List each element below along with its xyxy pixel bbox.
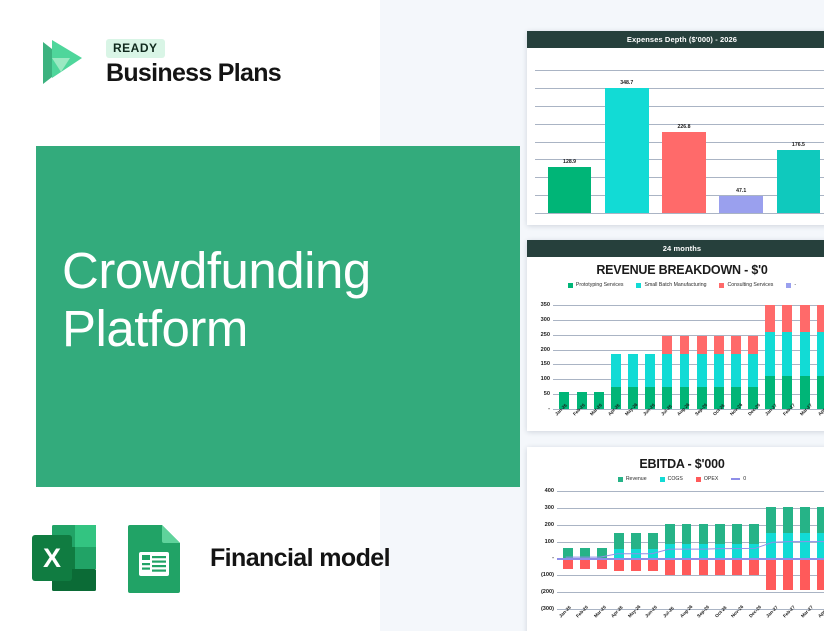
bar-column	[676, 305, 693, 409]
bar-segment-opex	[749, 558, 759, 575]
bar-segment-cogs	[732, 544, 742, 559]
bar-segment	[628, 354, 638, 387]
bar-segment	[748, 354, 758, 387]
bar-segment-revenue	[682, 524, 692, 544]
bar-segment-revenue	[699, 524, 709, 544]
gridline	[535, 213, 824, 214]
bar-column	[813, 305, 824, 409]
chart-title-ebitda: EBITDA - $'000	[535, 457, 824, 471]
bar-segment	[817, 305, 824, 332]
bar-segment	[714, 336, 724, 354]
bar-column	[678, 491, 695, 609]
bar-column	[624, 305, 641, 409]
bar: 226.8	[662, 132, 705, 213]
bar-segment-revenue	[597, 548, 607, 558]
bar-segment	[714, 354, 724, 387]
positive-stack	[766, 507, 776, 558]
bar-segment	[662, 336, 672, 354]
stacked-bar	[748, 305, 758, 409]
bar-column	[627, 491, 644, 609]
bar-segment	[748, 336, 758, 354]
bar-column	[746, 491, 763, 609]
bar: 128.9	[548, 167, 591, 213]
positive-stack	[732, 524, 742, 559]
plot-expenses: 128.9348.7226.847.1176.5	[535, 70, 824, 213]
bar: 176.5	[777, 150, 820, 213]
bar-segment-revenue	[665, 524, 675, 544]
bar-segment	[662, 354, 672, 387]
legend-label: Consulting Services	[727, 282, 773, 288]
bar-segment	[645, 354, 655, 387]
stacked-bar	[765, 305, 775, 409]
x-tick: Jan-26	[553, 411, 571, 431]
bar-segment-opex	[817, 558, 824, 590]
legend-label: Small Batch Manufacturing	[644, 282, 706, 288]
legend-label: Revenue	[626, 476, 647, 482]
positive-stack	[563, 548, 573, 558]
bar-segment-cogs	[783, 533, 793, 558]
positive-stack	[783, 507, 793, 558]
legend-label: COGS	[668, 476, 683, 482]
zero-reference-line	[557, 558, 824, 559]
bar-segment-opex	[715, 558, 725, 575]
bar-series-expenses: 128.9348.7226.847.1176.5	[541, 70, 824, 213]
bar-segment-cogs	[614, 549, 624, 558]
bar-column	[560, 491, 577, 609]
legend-swatch	[786, 283, 791, 288]
positive-stack	[597, 548, 607, 558]
hero-block: Crowdfunding Platform	[36, 146, 520, 487]
bar-segment-opex	[665, 558, 675, 575]
bar-column: 47.1	[713, 70, 770, 213]
footer-label: Financial model	[210, 544, 390, 573]
legend-item: Revenue	[618, 476, 647, 482]
bar-column	[796, 491, 813, 609]
bar-column	[594, 491, 611, 609]
bar-segment-cogs	[749, 544, 759, 559]
bar-segment-opex	[682, 558, 692, 575]
bar-column	[590, 305, 607, 409]
bar-column	[727, 305, 744, 409]
legend-swatch	[719, 283, 724, 288]
google-sheets-icon	[120, 521, 188, 595]
bar-segment	[731, 354, 741, 387]
bar-column	[577, 491, 594, 609]
y-tick-label: 300	[541, 317, 550, 323]
y-tick-label: 300	[545, 505, 554, 511]
bar-value-label: 226.8	[677, 124, 690, 130]
bar-segment	[800, 305, 810, 332]
bar-column	[710, 305, 727, 409]
bar-segment-revenue	[732, 524, 742, 544]
positive-stack	[614, 533, 624, 558]
y-tick-label: (100)	[541, 572, 554, 578]
bar-series-revenue	[556, 305, 824, 409]
chart-plot-area-revenue: REVENUE BREAKDOWN - $'0 Prototyping Serv…	[527, 257, 824, 431]
chart-card-revenue[interactable]: 24 months REVENUE BREAKDOWN - $'0 Protot…	[527, 240, 824, 431]
legend-item: Consulting Services	[719, 282, 773, 288]
chart-band-revenue: 24 months	[527, 240, 824, 257]
bar-column: 226.8	[655, 70, 712, 213]
chart-title-expenses: Expenses Depth ($'000) - 2026	[527, 31, 824, 48]
bar-segment-revenue	[766, 507, 776, 533]
play-triangle-logo-icon	[30, 32, 92, 94]
legend-swatch	[618, 477, 623, 482]
bar-column	[762, 305, 779, 409]
positive-stack	[800, 507, 810, 558]
bar: 47.1	[719, 196, 762, 213]
bar-value-label: 176.5	[792, 142, 805, 148]
bar-segment-revenue	[648, 533, 658, 549]
y-tick-label: 100	[541, 376, 550, 382]
chart-plot-area-ebitda: EBITDA - $'000 RevenueCOGSOPEX0 40030020…	[527, 447, 824, 631]
plot-ebitda: 400300200100-(100)(200)(300)	[557, 491, 824, 609]
bar-segment-revenue	[783, 507, 793, 533]
bar-segment-cogs	[699, 544, 709, 559]
bar-segment	[782, 332, 792, 376]
brand-logo-block: READY Business Plans	[30, 32, 281, 94]
bar-column	[780, 491, 797, 609]
chart-legend-ebitda: RevenueCOGSOPEX0	[535, 476, 824, 482]
legend-item: COGS	[660, 476, 683, 482]
y-tick-label: (300)	[541, 606, 554, 612]
y-tick-label: 150	[541, 361, 550, 367]
brand-text: READY Business Plans	[106, 39, 281, 86]
positive-stack	[749, 524, 759, 559]
bar-column: 348.7	[598, 70, 655, 213]
bar-segment	[611, 354, 621, 387]
bar-segment-opex	[563, 558, 573, 568]
bar-column	[796, 305, 813, 409]
bar-segment-cogs	[817, 533, 824, 558]
legend-item: Prototyping Services	[568, 282, 624, 288]
legend-label: Prototyping Services	[576, 282, 624, 288]
stacked-bar	[714, 305, 724, 409]
bar-segment-opex	[580, 558, 590, 568]
bar-value-label: 128.9	[563, 159, 576, 165]
stacked-bar	[559, 305, 569, 409]
stacked-bar	[782, 305, 792, 409]
bar-segment-opex	[699, 558, 709, 575]
stacked-bar	[817, 305, 824, 409]
positive-stack	[715, 524, 725, 559]
y-tick-label: 250	[541, 332, 550, 338]
bar-segment	[800, 332, 810, 376]
bar-column	[659, 305, 676, 409]
bar-segment-opex	[766, 558, 776, 590]
stacked-bar	[800, 305, 810, 409]
y-tick-label: -	[552, 555, 554, 561]
plot-revenue: 35030025020015010050-	[553, 305, 824, 409]
bar-segment-revenue	[749, 524, 759, 544]
bar-segment-opex	[732, 558, 742, 575]
bar-segment-cogs	[682, 544, 692, 559]
bar-column	[556, 305, 573, 409]
bar-segment-opex	[648, 558, 658, 570]
bar-series-ebitda	[560, 491, 824, 609]
bar-column	[610, 491, 627, 609]
stacked-bar	[645, 305, 655, 409]
y-tick-label: 350	[541, 302, 550, 308]
stacked-bar	[577, 305, 587, 409]
bar-column: 128.9	[541, 70, 598, 213]
chart-title-revenue: REVENUE BREAKDOWN - $'0	[535, 263, 824, 277]
x-axis-labels-ebitda: Jan-26Feb-26Mar-26Apr-26May-26Jun-26Jul-…	[557, 613, 824, 631]
positive-stack	[631, 533, 641, 558]
stacked-bar	[611, 305, 621, 409]
bar-column	[573, 305, 590, 409]
legend-swatch	[568, 283, 573, 288]
bar-segment-cogs	[648, 549, 658, 558]
bar-segment	[782, 305, 792, 332]
y-tick-label: 50	[544, 391, 550, 397]
bar-segment-revenue	[580, 548, 590, 558]
bar-segment-cogs	[800, 533, 810, 558]
bar-column	[695, 491, 712, 609]
bar-column	[693, 305, 710, 409]
bar-column	[813, 491, 824, 609]
chart-card-ebitda[interactable]: EBITDA - $'000 RevenueCOGSOPEX0 40030020…	[527, 447, 824, 631]
legend-swatch	[731, 478, 740, 480]
legend-item: 0	[731, 476, 746, 482]
y-tick-label: 200	[545, 522, 554, 528]
page-title: Crowdfunding Platform	[62, 242, 502, 358]
bar-segment-revenue	[614, 533, 624, 549]
bar-column: 176.5	[770, 70, 824, 213]
bar-segment	[765, 332, 775, 376]
positive-stack	[665, 524, 675, 559]
svg-text:X: X	[43, 543, 61, 573]
bar-segment-revenue	[715, 524, 725, 544]
stacked-bar	[697, 305, 707, 409]
positive-stack	[648, 533, 658, 558]
bar: 348.7	[605, 88, 648, 213]
bar-segment-revenue	[563, 548, 573, 558]
bar-column	[661, 491, 678, 609]
bar-segment-opex	[800, 558, 810, 590]
bar-column	[642, 305, 659, 409]
bar-segment-cogs	[665, 544, 675, 559]
positive-stack	[682, 524, 692, 559]
legend-swatch	[660, 477, 665, 482]
x-tick: Jan-26	[557, 613, 574, 631]
ready-badge: READY	[106, 39, 165, 58]
y-tick-label: (200)	[541, 589, 554, 595]
bar-segment	[680, 336, 690, 354]
legend-item: OPEX	[696, 476, 718, 482]
bar-column	[729, 491, 746, 609]
bar-segment	[765, 305, 775, 332]
excel-file-icon: X	[30, 521, 98, 595]
stacked-bar	[731, 305, 741, 409]
positive-stack	[699, 524, 709, 559]
bar-segment-cogs	[631, 549, 641, 558]
y-tick-label: 100	[545, 539, 554, 545]
bar-segment-opex	[614, 558, 624, 570]
y-tick-label: -	[548, 406, 550, 412]
bar-segment-revenue	[800, 507, 810, 533]
legend-label: 0	[743, 476, 746, 482]
stacked-bar	[680, 305, 690, 409]
bar-segment	[817, 332, 824, 376]
stacked-bar	[628, 305, 638, 409]
chart-card-expenses[interactable]: Expenses Depth ($'000) - 2026 128.9348.7…	[527, 31, 824, 225]
bar-value-label: 348.7	[620, 80, 633, 86]
bar-column	[607, 305, 624, 409]
positive-stack	[580, 548, 590, 558]
footer-row: X Financial model	[30, 521, 390, 595]
bar-segment	[697, 336, 707, 354]
bar-column	[745, 305, 762, 409]
bar-segment-cogs	[766, 533, 776, 558]
brand-name: Business Plans	[106, 60, 281, 86]
legend-swatch	[636, 283, 641, 288]
bar-segment-opex	[597, 558, 607, 568]
chart-plot-area-expenses: 128.9348.7226.847.1176.5	[527, 48, 824, 225]
stacked-bar	[594, 305, 604, 409]
y-tick-label: 200	[541, 347, 550, 353]
bar-column	[779, 305, 796, 409]
legend-swatch	[696, 477, 701, 482]
bar-segment	[680, 354, 690, 387]
bar-segment	[817, 376, 824, 409]
legend-item: Small Batch Manufacturing	[636, 282, 706, 288]
positive-stack	[817, 507, 824, 558]
legend-label: -	[794, 282, 796, 288]
y-tick-label: 400	[545, 488, 554, 494]
bar-segment-cogs	[715, 544, 725, 559]
bar-column	[763, 491, 780, 609]
bar-segment-opex	[631, 558, 641, 570]
bar-value-label: 47.1	[736, 188, 746, 194]
bar-column	[644, 491, 661, 609]
x-axis-labels-revenue: Jan-26Feb-26Mar-26Apr-26May-26Jun-26Jul-…	[553, 411, 824, 431]
bar-segment-revenue	[817, 507, 824, 533]
bar-segment-revenue	[631, 533, 641, 549]
bar-segment	[697, 354, 707, 387]
bar-segment	[731, 336, 741, 354]
bar-segment-opex	[783, 558, 793, 590]
legend-item: -	[786, 282, 796, 288]
chart-legend-revenue: Prototyping ServicesSmall Batch Manufact…	[535, 282, 824, 288]
legend-label: OPEX	[704, 476, 718, 482]
stacked-bar	[662, 305, 672, 409]
bar-column	[712, 491, 729, 609]
